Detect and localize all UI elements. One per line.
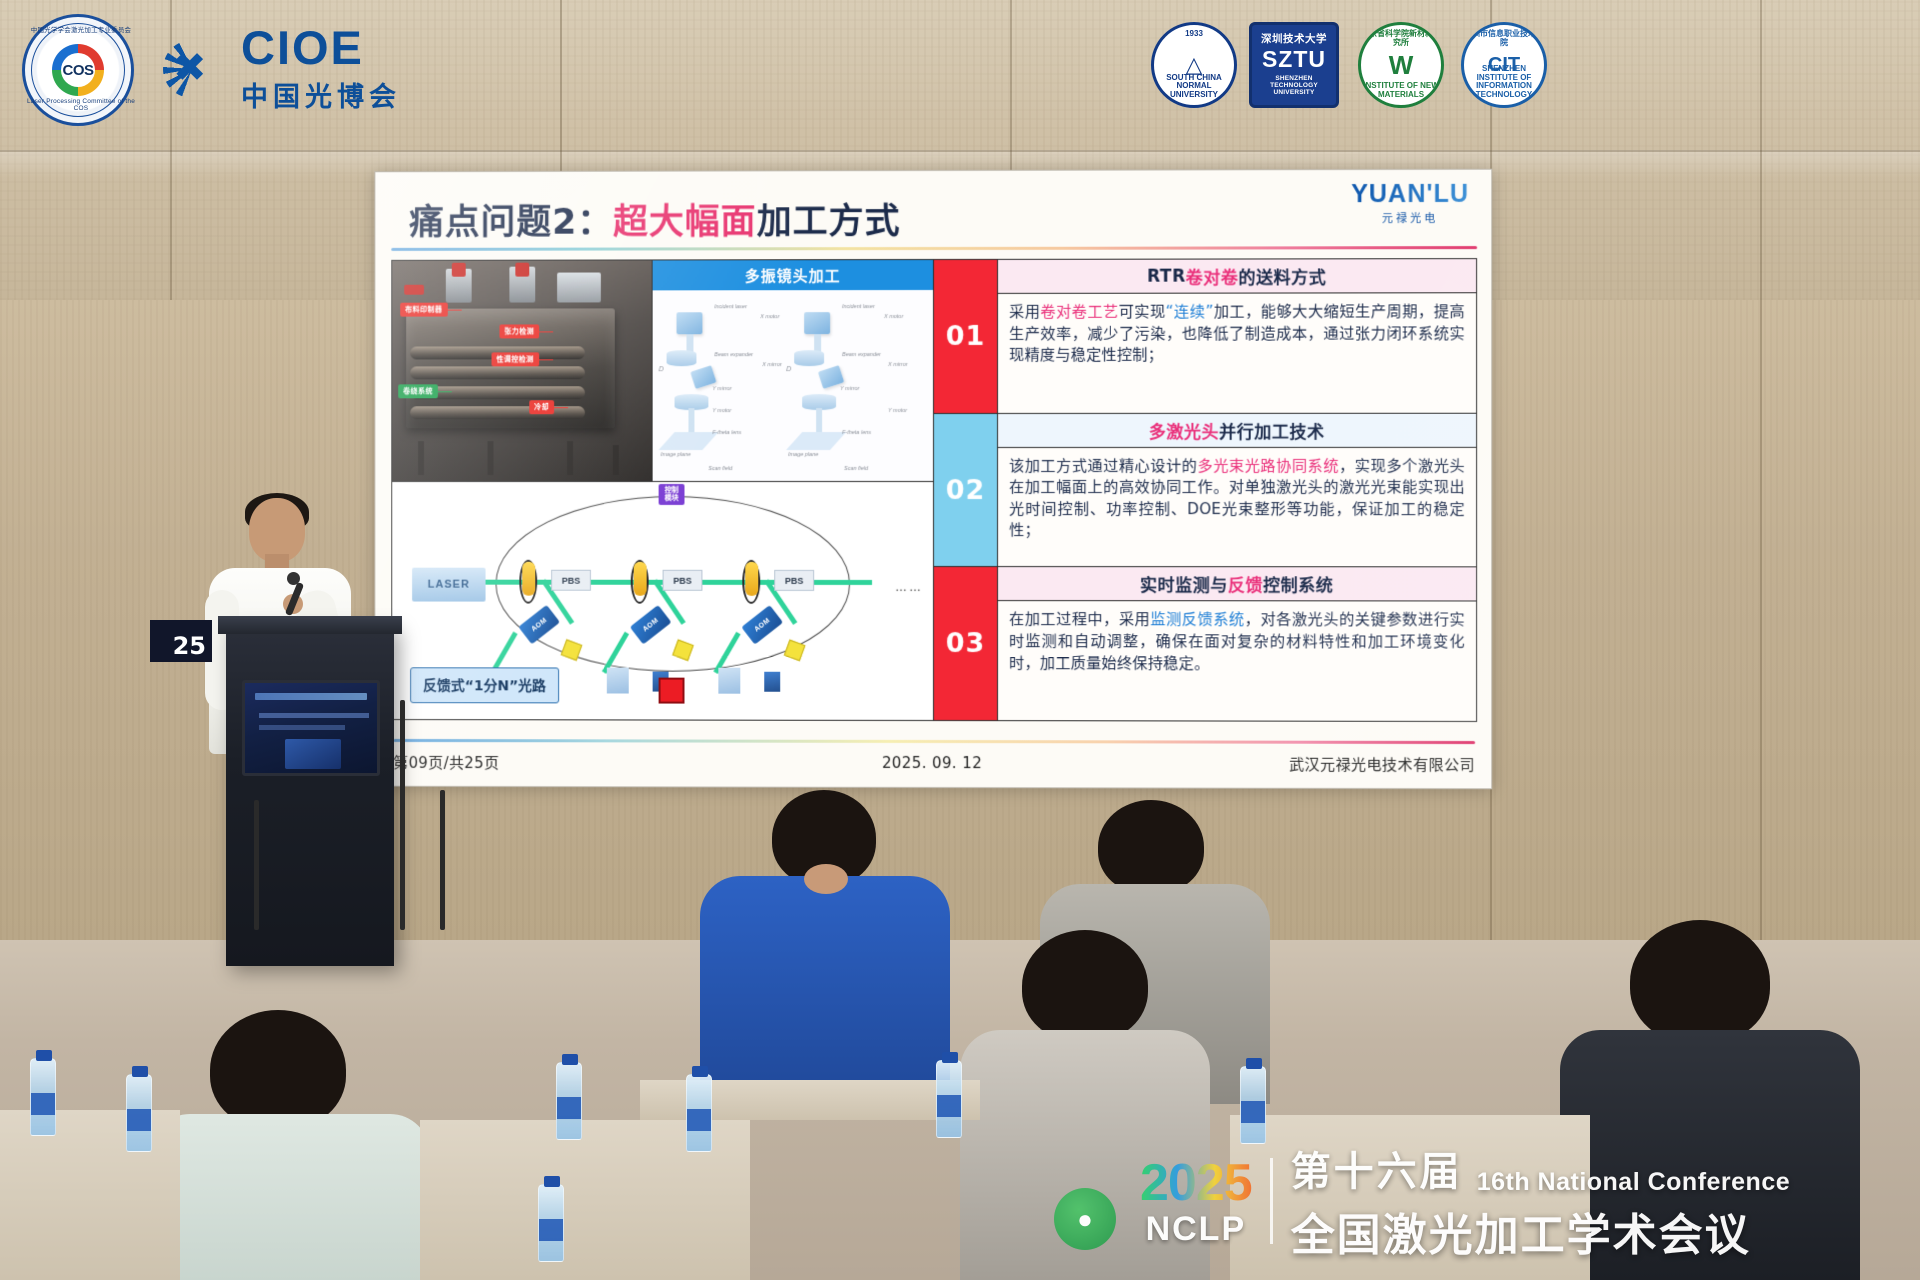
feature-heading-01-part2: 的送料方式 [1238, 263, 1326, 288]
feature-body-02-seg1: 多光束光路协同系统 [1197, 457, 1339, 475]
slide-left-column: 布料印制器 张力检测 性调控检测 卷绕系统 冷却 多振镜头加工 [392, 260, 934, 720]
confidence-monitor-number: 25 [173, 632, 206, 660]
photo-tag-2: 性调控检测 [492, 352, 539, 366]
optical-path-caption: 反馈式“1分N”光路 [410, 667, 559, 703]
feature-row-02: 02 多激光头并行加工技术 该加工方式通过精心设计的多光束光路协同系统，实现多个… [934, 413, 1476, 567]
sztu-logo-bottom: SHENZHEN TECHNOLOGY UNIVERSITY [1252, 75, 1336, 96]
scan-label-beam-expander-1: Beam expander [714, 352, 753, 358]
feature-heading-03: 实时监测与反馈控制系统 [998, 567, 1476, 601]
water-bottle [936, 1060, 962, 1138]
feature-body-03: 在加工过程中，采用监测反馈系统，对各激光头的关键参数进行实时监测和自动调整，确保… [998, 601, 1476, 721]
cos-logo-bottom-text: Laser Processing Committee of the COS [25, 99, 137, 112]
water-bottle [30, 1058, 56, 1136]
mic-cable [400, 700, 405, 930]
feature-body-01-seg1: 卷对卷工艺 [1040, 303, 1118, 321]
scut-logo-bottom: SOUTH CHINA NORMAL UNIVERSITY [1154, 74, 1234, 100]
photo-tag-3: 卷绕系统 [398, 384, 438, 398]
photo-tag-1: 张力检测 [499, 324, 539, 338]
water-bottle [686, 1074, 712, 1152]
sztu-logo-mark: SZTU [1262, 47, 1326, 72]
feature-heading-02: 多激光头并行加工技术 [998, 413, 1476, 447]
scan-label-incident-laser-1: Incident laser [714, 304, 747, 310]
feature-row-01: 01 RTR卷对卷的送料方式 采用卷对卷工艺可实现“连续”加工，能够大大缩短生产… [934, 259, 1476, 414]
feature-body-01: 采用卷对卷工艺可实现“连续”加工，能够大大缩短生产周期，提高生产效率，减少了污染… [998, 293, 1476, 412]
feature-heading-03-part2: 控制系统 [1263, 572, 1333, 597]
yuanlu-logo-en: YUAN'LU [1351, 182, 1469, 207]
scan-label-x-motor-2: X motor [884, 314, 903, 320]
scan-label-scan-field-1: Scan field [708, 466, 732, 472]
cos-logo: 中国光学学会激光加工专业委员会 COS Laser Processing Com… [22, 14, 134, 126]
cioe-mark-icon: ✖ [155, 32, 229, 106]
cos-logo-core: COS [52, 44, 104, 96]
feature-body-01-seg0: 采用 [1009, 303, 1040, 321]
multi-galvo-heading: 多振镜头加工 [653, 260, 933, 290]
cit-logo: 深圳市信息职业技术学院 CIT SHENZHEN INSTITUTE OF IN… [1458, 22, 1550, 114]
sponsor-logo-bar: 中国光学学会激光加工专业委员会 COS Laser Processing Com… [0, 0, 1920, 140]
gdas-logo-top: 广东省科学院新材料研究所 [1361, 30, 1441, 48]
podium [226, 624, 394, 966]
feature-heading-03-part1: 实时监测与 [1140, 571, 1228, 596]
feature-heading-03-highlight: 反馈 [1228, 572, 1263, 597]
slide-footer: 第09页/共25页 2025. 09. 12 武汉元禄光电技术有限公司 [393, 748, 1475, 778]
yuanlu-logo-cn: 元禄光电 [1351, 210, 1469, 226]
scut-logo: 1933 △ SOUTH CHINA NORMAL UNIVERSITY [1148, 22, 1240, 114]
scan-label-d-2: D [786, 366, 791, 373]
water-bottle [1240, 1066, 1266, 1144]
presenter-laptop [242, 680, 380, 776]
scan-label-ftheta-1: F-theta lens [712, 430, 741, 436]
photo-tag-4: 冷却 [529, 400, 554, 414]
feature-heading-01-highlight: 卷对卷 [1186, 264, 1239, 289]
water-bottle [126, 1074, 152, 1152]
scan-label-incident-laser-2: Incident laser [842, 304, 875, 310]
feature-body-02: 该加工方式通过精心设计的多光束光路协同系统，实现多个激光头在加工幅面上的高效协同… [998, 448, 1476, 567]
footer-divider [393, 739, 1475, 744]
water-bottle [556, 1062, 582, 1140]
title-divider [391, 246, 1477, 251]
event-watermark: ● 2025 NCLP 第十六届 16th National Conferenc… [1140, 1136, 1900, 1266]
scan-label-y-motor-2: Y motor [888, 408, 907, 414]
slide-title-highlight: 超大幅面 [613, 202, 756, 242]
slide-title-prefix: 痛点问题2： [409, 203, 613, 243]
feature-body-02-seg0: 该加工方式通过精心设计的 [1009, 457, 1197, 475]
scan-label-d-1: D [659, 366, 664, 373]
wechat-icon: ● [1054, 1188, 1116, 1250]
podium-top-surface [218, 616, 402, 634]
scan-label-scan-field-2: Scan field [844, 466, 868, 472]
slide-content-grid: 布料印制器 张力检测 性调控检测 卷绕系统 冷却 多振镜头加工 [391, 258, 1477, 722]
feature-heading-02-highlight: 多激光头 [1149, 418, 1219, 443]
slide-date: 2025. 09. 12 [393, 753, 1475, 773]
machine-photo: 布料印制器 张力检测 性调控检测 卷绕系统 冷却 [392, 260, 652, 481]
scan-label-y-mirror-1: Y mirror [712, 386, 731, 392]
audience-member-front-left [150, 1010, 430, 1280]
scan-label-y-mirror-2: Y mirror [840, 386, 859, 392]
wall-seam [1760, 0, 1762, 940]
feature-heading-01: RTR卷对卷的送料方式 [998, 259, 1476, 294]
cos-logo-acronym: COS [61, 53, 95, 87]
conference-photo: 中国光学学会激光加工专业委员会 COS Laser Processing Com… [0, 0, 1920, 1280]
pbs-1: PBS [663, 570, 703, 591]
watermark-year: 2025 [1140, 1157, 1252, 1209]
optical-path-diagram: 控制模块 LASER [392, 482, 933, 720]
photo-tag-0: 布料印制器 [400, 303, 447, 317]
watermark-acronym: NCLP [1140, 1212, 1252, 1246]
control-module-box: 控制模块 [659, 484, 685, 505]
multi-galvo-diagram-cell: 多振镜头加工 [653, 260, 933, 481]
cit-logo-top: 深圳市信息职业技术学院 [1464, 30, 1544, 48]
slide-right-column: 01 RTR卷对卷的送料方式 采用卷对卷工艺可实现“连续”加工，能够大大缩短生产… [934, 259, 1476, 721]
slide-title: 痛点问题2：超大幅面加工方式 [409, 193, 900, 245]
slide-title-suffix: 加工方式 [757, 202, 901, 242]
sztu-logo: 深圳技术大学 SZTU SHENZHEN TECHNOLOGY UNIVERSI… [1248, 22, 1340, 114]
podium-cable [254, 800, 259, 930]
watermark-year-block: 2025 NCLP [1140, 1157, 1252, 1246]
pbs-0: PBS [551, 570, 591, 591]
feature-body-03-seg0: 在加工过程中，采用 [1009, 610, 1150, 628]
feature-body-01-seg2: 可实现 [1119, 303, 1166, 321]
multi-galvo-diagram: Incident laser X motor Incident laser X … [653, 290, 933, 481]
scan-label-image-plane-1: Image plane [661, 452, 691, 458]
scan-label-x-mirror-1: X mirror [762, 362, 782, 368]
watermark-edition-cn: 第十六届 [1291, 1139, 1463, 1197]
detector-block [659, 678, 685, 704]
audience-table-left [0, 1110, 180, 1280]
feature-body-01-seg3: “连续” [1166, 303, 1214, 321]
gdas-logo-bottom: INSTITUTE OF NEW MATERIALS [1361, 82, 1441, 100]
feature-row-03: 03 实时监测与反馈控制系统 在加工过程中，采用监测反馈系统，对各激光头的关键参… [934, 567, 1476, 721]
cos-logo-top-text: 中国光学学会激光加工专业委员会 [25, 28, 137, 35]
gdas-logo-mark: W [1389, 51, 1414, 80]
confidence-monitor: 25 [150, 620, 212, 662]
feature-number-03: 03 [934, 567, 998, 720]
cioe-logo: ✖ CIOE 中国光博会 [155, 26, 401, 112]
watermark-edition-en: 16th National Conference [1477, 1168, 1790, 1197]
feature-heading-01-part1: RTR [1147, 266, 1186, 286]
watermark-divider [1270, 1158, 1273, 1244]
cioe-logo-en: CIOE [241, 24, 401, 71]
feature-body-03-seg1: 监测反馈系统 [1150, 611, 1244, 629]
water-bottle [538, 1184, 564, 1262]
scan-label-x-mirror-2: X mirror [888, 362, 908, 368]
cit-logo-bottom: SHENZHEN INSTITUTE OF INFORMATION TECHNO… [1464, 65, 1544, 100]
presenter-head [249, 498, 305, 562]
laser-source-box: LASER [412, 568, 485, 602]
feature-heading-02-part2: 并行加工技术 [1219, 417, 1325, 442]
pbs-2: PBS [774, 570, 814, 591]
watermark-conference-name: 全国激光加工学术会议 [1291, 1199, 1790, 1263]
feature-number-01: 01 [934, 260, 998, 413]
scan-label-y-motor-1: Y motor [712, 408, 731, 414]
scan-label-ftheta-2: F-theta lens [842, 430, 871, 436]
yuanlu-brand-logo: YUAN'LU 元禄光电 [1351, 182, 1469, 226]
scut-logo-top: 1933 [1154, 30, 1234, 39]
gdas-logo: 广东省科学院新材料研究所 W INSTITUTE OF NEW MATERIAL… [1355, 22, 1447, 114]
cioe-logo-cn: 中国光博会 [241, 75, 401, 114]
sztu-logo-top: 深圳技术大学 [1261, 34, 1327, 46]
feature-number-02: 02 [934, 414, 998, 567]
scan-label-x-motor-1: X motor [760, 314, 779, 320]
wall-seam-horizontal [0, 150, 1920, 152]
scan-label-image-plane-2: Image plane [788, 452, 818, 458]
projection-screen: 痛点问题2：超大幅面加工方式 YUAN'LU 元禄光电 [374, 169, 1492, 790]
audience-member-blue-shirt [700, 790, 950, 1090]
floor-cable [440, 790, 445, 930]
scan-label-beam-expander-2: Beam expander [842, 352, 881, 358]
continuation-ellipsis: …… [895, 580, 923, 594]
